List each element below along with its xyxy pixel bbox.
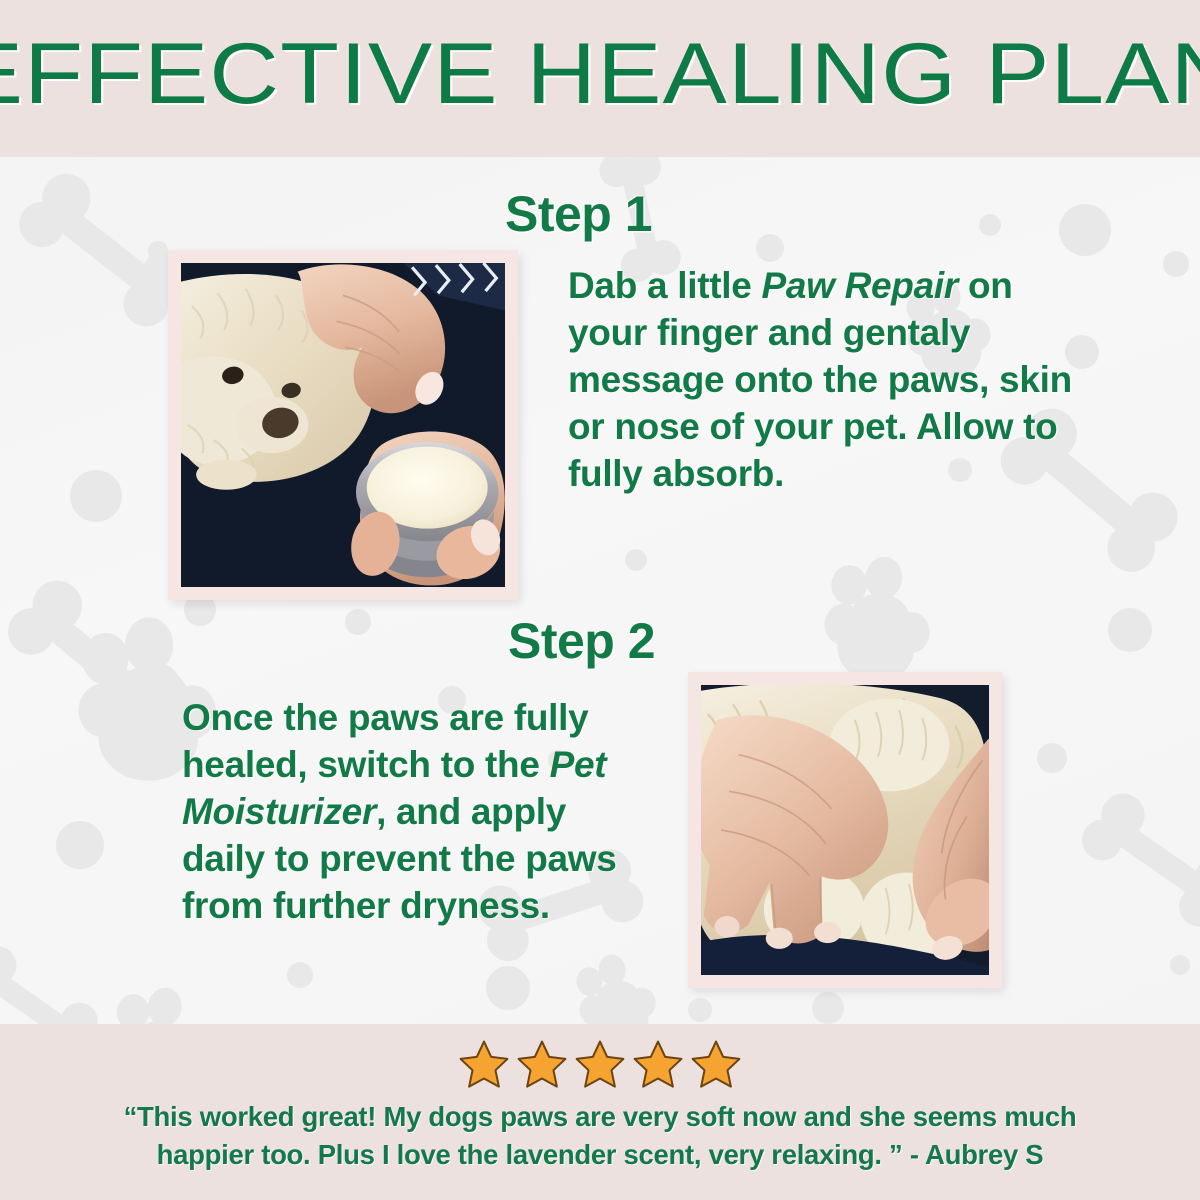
step-2-photo: [701, 685, 989, 975]
paw-and-bone-pattern: [0, 0, 1200, 1200]
testimonial-quote: “This worked great! My dogs paws are ver…: [80, 1098, 1120, 1174]
star-icon: [456, 1038, 512, 1092]
step-1-heading: Step 1: [505, 186, 652, 242]
star-icon: [688, 1038, 744, 1092]
healing-plan-infographic: EFFECTIVE HEALING PLAN Step 1 Dab a litt…: [0, 0, 1200, 1200]
step-1-photo: [181, 263, 505, 587]
step-2-body: Once the paws are fully healed, switch t…: [182, 694, 632, 929]
step-2-heading: Step 2: [508, 613, 655, 669]
testimonial-line-1: “This worked great! My dogs paws are ver…: [80, 1098, 1120, 1136]
step-1-photo-frame: [168, 250, 518, 600]
star-rating: [0, 1038, 1200, 1092]
step-2-photo-frame: [688, 672, 1002, 988]
step-2-body-pre: Once the paws are fully healed, switch t…: [182, 697, 588, 785]
step-1-product-name: Paw Repair: [761, 265, 957, 306]
step-1-body: Dab a little Paw Repair on your finger a…: [568, 262, 1088, 497]
star-icon: [630, 1038, 686, 1092]
step-1-body-pre: Dab a little: [568, 265, 761, 306]
testimonial-line-2: happier too. Plus I love the lavender sc…: [80, 1136, 1120, 1174]
star-icon: [572, 1038, 628, 1092]
star-icon: [514, 1038, 570, 1092]
page-title: EFFECTIVE HEALING PLAN: [0, 26, 1200, 122]
